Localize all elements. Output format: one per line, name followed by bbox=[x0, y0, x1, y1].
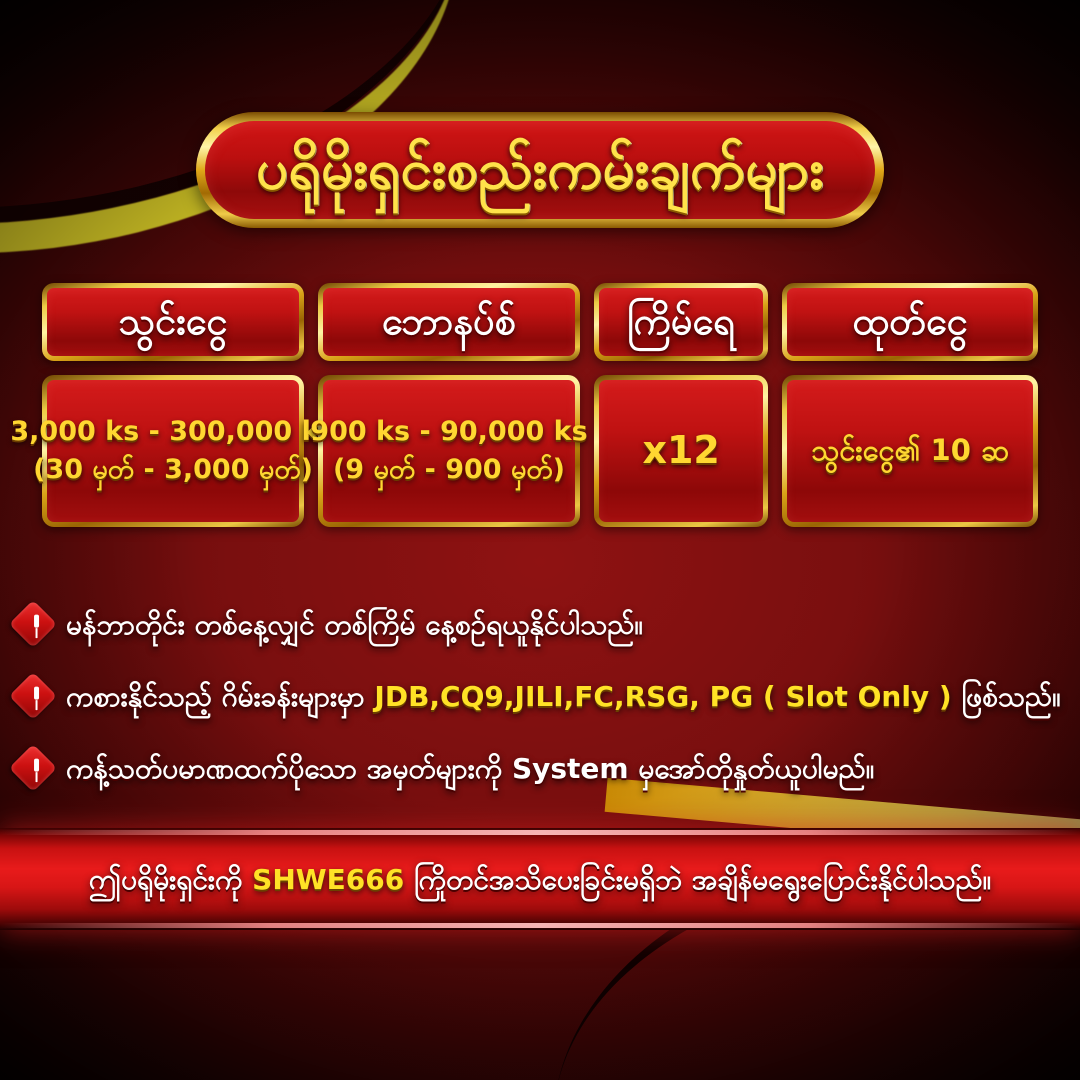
table-header-bonus: ဘောနပ်စ် bbox=[318, 283, 580, 361]
list-item-label: မန်ဘာတိုင်း တစ်နေ့လျှင် တစ်ကြိမ် နေ့စဉ်ရ… bbox=[66, 607, 643, 642]
table-cell-line2: (30 မှတ် - 3,000 မှတ်) bbox=[33, 451, 313, 489]
table-cell-line1: 3,000 ks - 300,000 ks bbox=[10, 413, 335, 451]
page-title: ပရိုမိုးရှင်းစည်းကမ်းချက်များ bbox=[256, 140, 824, 200]
list-item-label: ကစားနိုင်သည့် ဂိမ်းခန်းများမှာ JDB,CQ9,J… bbox=[66, 679, 1061, 714]
table-column-withdrawal: ထုတ်ငွေ သွင်းငွေ၏ 10 ဆ bbox=[782, 283, 1038, 527]
table-cell-withdrawal: သွင်းငွေ၏ 10 ဆ bbox=[782, 375, 1038, 527]
list-item-text-post: ဖြစ်သည်။ bbox=[952, 680, 1061, 713]
title-pill: ပရိုမိုးရှင်းစည်းကမ်းချက်များ bbox=[196, 112, 884, 228]
table-column-deposit: သွင်းငွေ 3,000 ks - 300,000 ks (30 မှတ် … bbox=[42, 283, 304, 527]
table-header-withdrawal: ထုတ်ငွေ bbox=[782, 283, 1038, 361]
table-cell-bonus: 900 ks - 90,000 ks (9 မှတ် - 900 မှတ်) bbox=[318, 375, 580, 527]
table-header-label: သွင်းငွေ bbox=[118, 301, 227, 343]
table-header-deposit: သွင်းငွေ bbox=[42, 283, 304, 361]
page-title-badge: ပရိုမိုးရှင်းစည်းကမ်းချက်များ bbox=[196, 112, 884, 228]
list-item: ကန့်သတ်ပမာဏထက်ပိုသော အမှတ်များကို System… bbox=[16, 732, 1066, 804]
list-item-label: ကန့်သတ်ပမာဏထက်ပိုသော အမှတ်များကို System… bbox=[66, 751, 874, 786]
footer-brand-name: SHWE666 bbox=[252, 863, 404, 896]
table-header-label: ထုတ်ငွေ bbox=[852, 301, 967, 343]
promotion-banner: ပရိုမိုးရှင်းစည်းကမ်းချက်များ သွင်းငွေ 3… bbox=[0, 0, 1080, 1080]
table-column-bonus: ဘောနပ်စ် 900 ks - 90,000 ks (9 မှတ် - 90… bbox=[318, 283, 580, 527]
footer-text-pre: ဤပရိုမိုးရှင်းကို bbox=[89, 863, 252, 896]
table-header-label: ကြိမ်ရေ bbox=[627, 301, 735, 343]
footer-text: ဤပရိုမိုးရှင်းကို SHWE666 ကြိုတင်အသိပေးခ… bbox=[89, 862, 991, 897]
warning-diamond-icon bbox=[9, 600, 57, 648]
table-cell-line1: 900 ks - 90,000 ks bbox=[310, 413, 587, 451]
table-header-times: ကြိမ်ရေ bbox=[594, 283, 768, 361]
list-item-text-pre: ကစားနိုင်သည့် ဂိမ်းခန်းများမှာ bbox=[66, 680, 374, 713]
footer-disclaimer-band: ဤပရိုမိုးရှင်းကို SHWE666 ကြိုတင်အသိပေးခ… bbox=[0, 828, 1080, 930]
table-cell-line2: (9 မှတ် - 900 မှတ်) bbox=[333, 451, 565, 489]
terms-list: မန်ဘာတိုင်း တစ်နေ့လျှင် တစ်ကြိမ် နေ့စဉ်ရ… bbox=[16, 588, 1066, 804]
table-cell-line1: x12 bbox=[642, 424, 719, 478]
table-cell-deposit: 3,000 ks - 300,000 ks (30 မှတ် - 3,000 မ… bbox=[42, 375, 304, 527]
list-item-games-highlight: JDB,CQ9,JILI,FC,RSG, PG ( Slot Only ) bbox=[374, 680, 951, 713]
warning-diamond-icon bbox=[9, 744, 57, 792]
table-cell-line1: သွင်းငွေ၏ 10 ဆ bbox=[811, 430, 1009, 471]
warning-diamond-icon bbox=[9, 672, 57, 720]
footer-text-post: ကြိုတင်အသိပေးခြင်းမရှိဘဲ အချိန်မရွေးပြော… bbox=[404, 863, 991, 896]
table-column-times: ကြိမ်ရေ x12 bbox=[594, 283, 768, 527]
list-item: ကစားနိုင်သည့် ဂိမ်းခန်းများမှာ JDB,CQ9,J… bbox=[16, 660, 1066, 732]
list-item: မန်ဘာတိုင်း တစ်နေ့လျှင် တစ်ကြိမ် နေ့စဉ်ရ… bbox=[16, 588, 1066, 660]
promotion-table: သွင်းငွေ 3,000 ks - 300,000 ks (30 မှတ် … bbox=[42, 283, 1038, 527]
table-cell-times: x12 bbox=[594, 375, 768, 527]
table-header-label: ဘောနပ်စ် bbox=[382, 301, 516, 343]
